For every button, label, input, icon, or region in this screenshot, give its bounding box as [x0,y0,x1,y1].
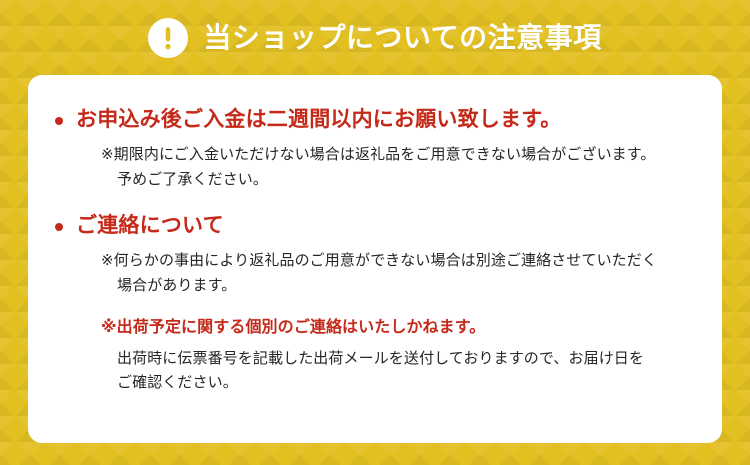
note-block-contact-unavailable: ※何らかの事由により返礼品のご用意ができない場合は別途ご連絡させていただく 場合… [45,248,702,297]
bullet-row-contact: ご連絡について [45,211,702,239]
note-line: 場合があります。 [101,273,702,297]
shop-notice-banner: 当ショップについての注意事項 お申込み後ご入金は二週間以内にお願い致します。 ※… [0,0,750,465]
note-line: ※期限内にご入金いただけない場合は返礼品をご用意できない場合がございます。 [101,142,702,166]
notice-section-contact: ご連絡について ※何らかの事由により返礼品のご用意ができない場合は別途ご連絡させ… [45,191,702,394]
page-title: 当ショップについての注意事項 [203,24,601,52]
exclamation-circle-icon [148,18,188,58]
notice-card: お申込み後ご入金は二週間以内にお願い致します。 ※期限内にご入金いただけない場合… [28,75,722,443]
note-line: ※何らかの事由により返礼品のご用意ができない場合は別途ご連絡させていただく [101,248,702,272]
note-block-shipping-warning: ※出荷予定に関する個別のご連絡はいたしかねます。 [45,314,702,340]
banner-header: 当ショップについての注意事項 [0,0,750,75]
note-line: ご確認ください。 [117,370,702,394]
notice-section-payment: お申込み後ご入金は二週間以内にお願い致します。 ※期限内にご入金いただけない場合… [45,101,702,191]
note-line: 出荷時に伝票番号を記載した出荷メールを送付しておりますので、お届け日を [117,346,702,370]
notice-heading-payment: お申込み後ご入金は二週間以内にお願い致します。 [76,105,562,133]
note-block-shipping-mail: 出荷時に伝票番号を記載した出荷メールを送付しておりますので、お届け日を ご確認く… [45,346,702,395]
notice-heading-contact: ご連絡について [76,211,224,239]
bullet-row-payment: お申込み後ご入金は二週間以内にお願い致します。 [45,105,702,133]
note-line: ※出荷予定に関する個別のご連絡はいたしかねます。 [101,314,702,340]
bullet-dot-icon [55,223,63,231]
bullet-dot-icon [55,117,63,125]
note-block-payment-deadline: ※期限内にご入金いただけない場合は返礼品をご用意できない場合がございます。 予め… [45,142,702,191]
note-line: 予めご了承ください。 [101,167,702,191]
